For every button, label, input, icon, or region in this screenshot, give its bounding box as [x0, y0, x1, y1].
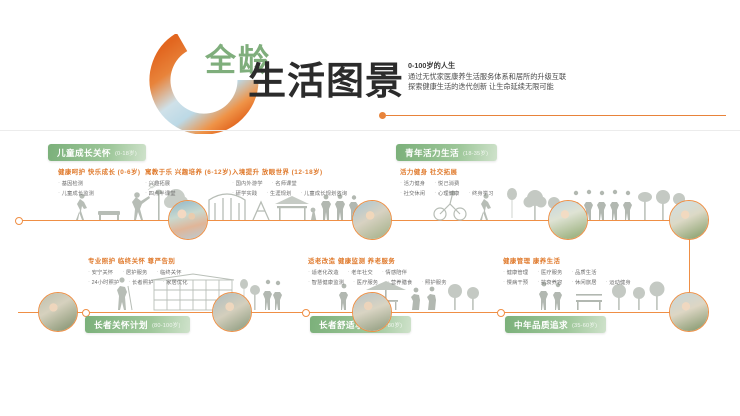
bullet-item: 安宁关怀	[88, 268, 113, 276]
bullet-item: 智慧健康监测	[308, 278, 344, 286]
bullet-item: 健康管理	[503, 268, 528, 276]
bullet-item: 品质生活	[571, 268, 596, 276]
infographic-canvas: 全龄 生活图景 0-100岁的人生 通过无忧家医康养生活服务体系和居所的升级互联…	[0, 0, 740, 416]
block-child-1: 寓教于乐 兴趣培养 (6-12岁) 兴趣拓展 四点半课堂	[145, 167, 232, 197]
pill-age: (18-35岁)	[463, 149, 488, 157]
bullet-item: 运动健身	[606, 278, 631, 286]
bullet-item: 儿童成长监测	[58, 189, 94, 197]
block-heading: 活力健身 社交拓展	[400, 167, 494, 176]
timeline-dot-lower-b	[302, 309, 310, 317]
bullet-item: 24小时照护	[88, 278, 119, 286]
bullet-item: 生涯规划	[266, 189, 291, 197]
block-heading: 入境提升 放眼世界 (12-18岁)	[232, 167, 347, 176]
photo-node-teen[interactable]	[352, 200, 392, 240]
header-divider	[0, 130, 740, 131]
pill-age: (0-18岁)	[115, 149, 137, 157]
photo-node-child[interactable]	[168, 200, 208, 240]
section-pill-middle[interactable]: 中年品质追求 (35-60岁)	[505, 316, 606, 333]
pill-title: 中年品质追求	[514, 319, 568, 331]
bullet-item: 儿童成长规划咨询	[300, 189, 347, 197]
bullet-item: 心理健康	[434, 189, 459, 197]
block-heading: 寓教于乐 兴趣培养 (6-12岁)	[145, 167, 232, 176]
page-title: 生活图景	[248, 62, 404, 100]
bullet-item: 情感陪伴	[382, 268, 407, 276]
header-rule	[386, 115, 726, 116]
block-heading: 健康呵护 快乐成长 (0-6岁)	[58, 167, 141, 176]
subtitle-line-2: 通过无忧家医康养生活服务体系和居所的升级互联	[408, 72, 566, 83]
bullet-item: 悦己消费	[434, 179, 459, 187]
block-middle-0: 健康管理 康养生活 健康管理 医疗服务 品质生活 慢病干预 抗衰养容 休闲旅居 …	[503, 256, 631, 286]
bullet-item: 四点半课堂	[145, 189, 176, 197]
photo-image	[353, 293, 391, 331]
bullet-item: 终身学习	[468, 189, 493, 197]
subtitle-line-3: 探索健康生活的迭代创新 让生命延续无限可能	[408, 82, 566, 93]
bullet-item: 慢病干预	[503, 278, 528, 286]
block-child-2: 入境提升 放眼世界 (12-18岁) 国内外游学 名师课堂 研学实践 生涯规划 …	[232, 167, 347, 197]
bullet-item: 活力健身	[400, 179, 425, 187]
block-elder-0: 专业照护 临终关怀 尊严告别 安宁关怀 居护服务 临终关怀 24小时照护 长者照…	[88, 256, 188, 286]
bullet-item: 营养膳食	[387, 278, 412, 286]
block-heading: 专业照护 临终关怀 尊严告别	[88, 256, 188, 265]
bullet-item: 医疗服务	[537, 268, 562, 276]
bullet-item: 基因检测	[58, 179, 83, 187]
photo-node-elder-care[interactable]	[212, 292, 252, 332]
timeline-dot-start	[15, 217, 23, 225]
block-youth-0: 活力健身 社交拓展 活力健身 悦己消费 社交休闲 心理健康 终身学习	[400, 167, 494, 197]
bullet-item: 老年社交	[348, 268, 373, 276]
photo-image	[670, 293, 708, 331]
photo-node-youth[interactable]	[548, 200, 588, 240]
bullet-item: 照护服务	[421, 278, 446, 286]
photo-node-elder[interactable]	[38, 292, 78, 332]
bullet-item: 适老化改造	[308, 268, 339, 276]
section-pill-youth[interactable]: 青年活力生活 (18-35岁)	[396, 144, 497, 161]
block-heading: 适老改造 健康监测 养老服务	[308, 256, 447, 265]
bullet-item: 家居优化	[163, 278, 188, 286]
block-heading: 健康管理 康养生活	[503, 256, 631, 265]
bullet-item: 居护服务	[122, 268, 147, 276]
photo-node-senior[interactable]	[352, 292, 392, 332]
bullet-item: 国内外游学	[232, 179, 263, 187]
bullet-item: 医疗服务	[353, 278, 378, 286]
pill-age: (35-60岁)	[572, 321, 597, 329]
photo-node-middle[interactable]	[669, 292, 709, 332]
header-rule-dot	[379, 112, 386, 119]
pill-age: (80-100岁)	[152, 321, 181, 329]
photo-node-youth-family[interactable]	[669, 200, 709, 240]
block-child-0: 健康呵护 快乐成长 (0-6岁) 基因检测 儿童成长监测	[58, 167, 141, 197]
photo-image	[353, 201, 391, 239]
photo-image	[169, 201, 207, 239]
bullet-item: 长者照护	[128, 278, 153, 286]
section-pill-elder[interactable]: 长者关怀计划 (80-100岁)	[85, 316, 190, 333]
section-pill-child[interactable]: 儿童成长关怀 (0-18岁)	[48, 144, 146, 161]
page-header: 全龄 生活图景 0-100岁的人生 通过无忧家医康养生活服务体系和居所的升级互联…	[0, 0, 740, 132]
block-senior-0: 适老改造 健康监测 养老服务 适老化改造 老年社交 情感陪伴 智慧健康监测 医疗…	[308, 256, 447, 286]
header-subtitle: 0-100岁的人生 通过无忧家医康养生活服务体系和居所的升级互联 探索健康生活的…	[408, 61, 566, 93]
bullet-item: 兴趣拓展	[145, 179, 170, 187]
photo-image	[213, 293, 251, 331]
bullet-item: 研学实践	[232, 189, 257, 197]
photo-image	[39, 293, 77, 331]
photo-image	[670, 201, 708, 239]
bullet-item: 休闲旅居	[571, 278, 596, 286]
pill-title: 儿童成长关怀	[57, 147, 111, 159]
photo-image	[549, 201, 587, 239]
subtitle-line-1: 0-100岁的人生	[408, 61, 566, 72]
timeline-dot-lower-c	[497, 309, 505, 317]
pill-title: 长者关怀计划	[94, 319, 148, 331]
bullet-item: 抗衰养容	[537, 278, 562, 286]
bullet-item: 社交休闲	[400, 189, 425, 197]
bullet-item: 名师课堂	[272, 179, 297, 187]
bullet-item: 临终关怀	[156, 268, 181, 276]
pill-title: 青年活力生活	[405, 147, 459, 159]
